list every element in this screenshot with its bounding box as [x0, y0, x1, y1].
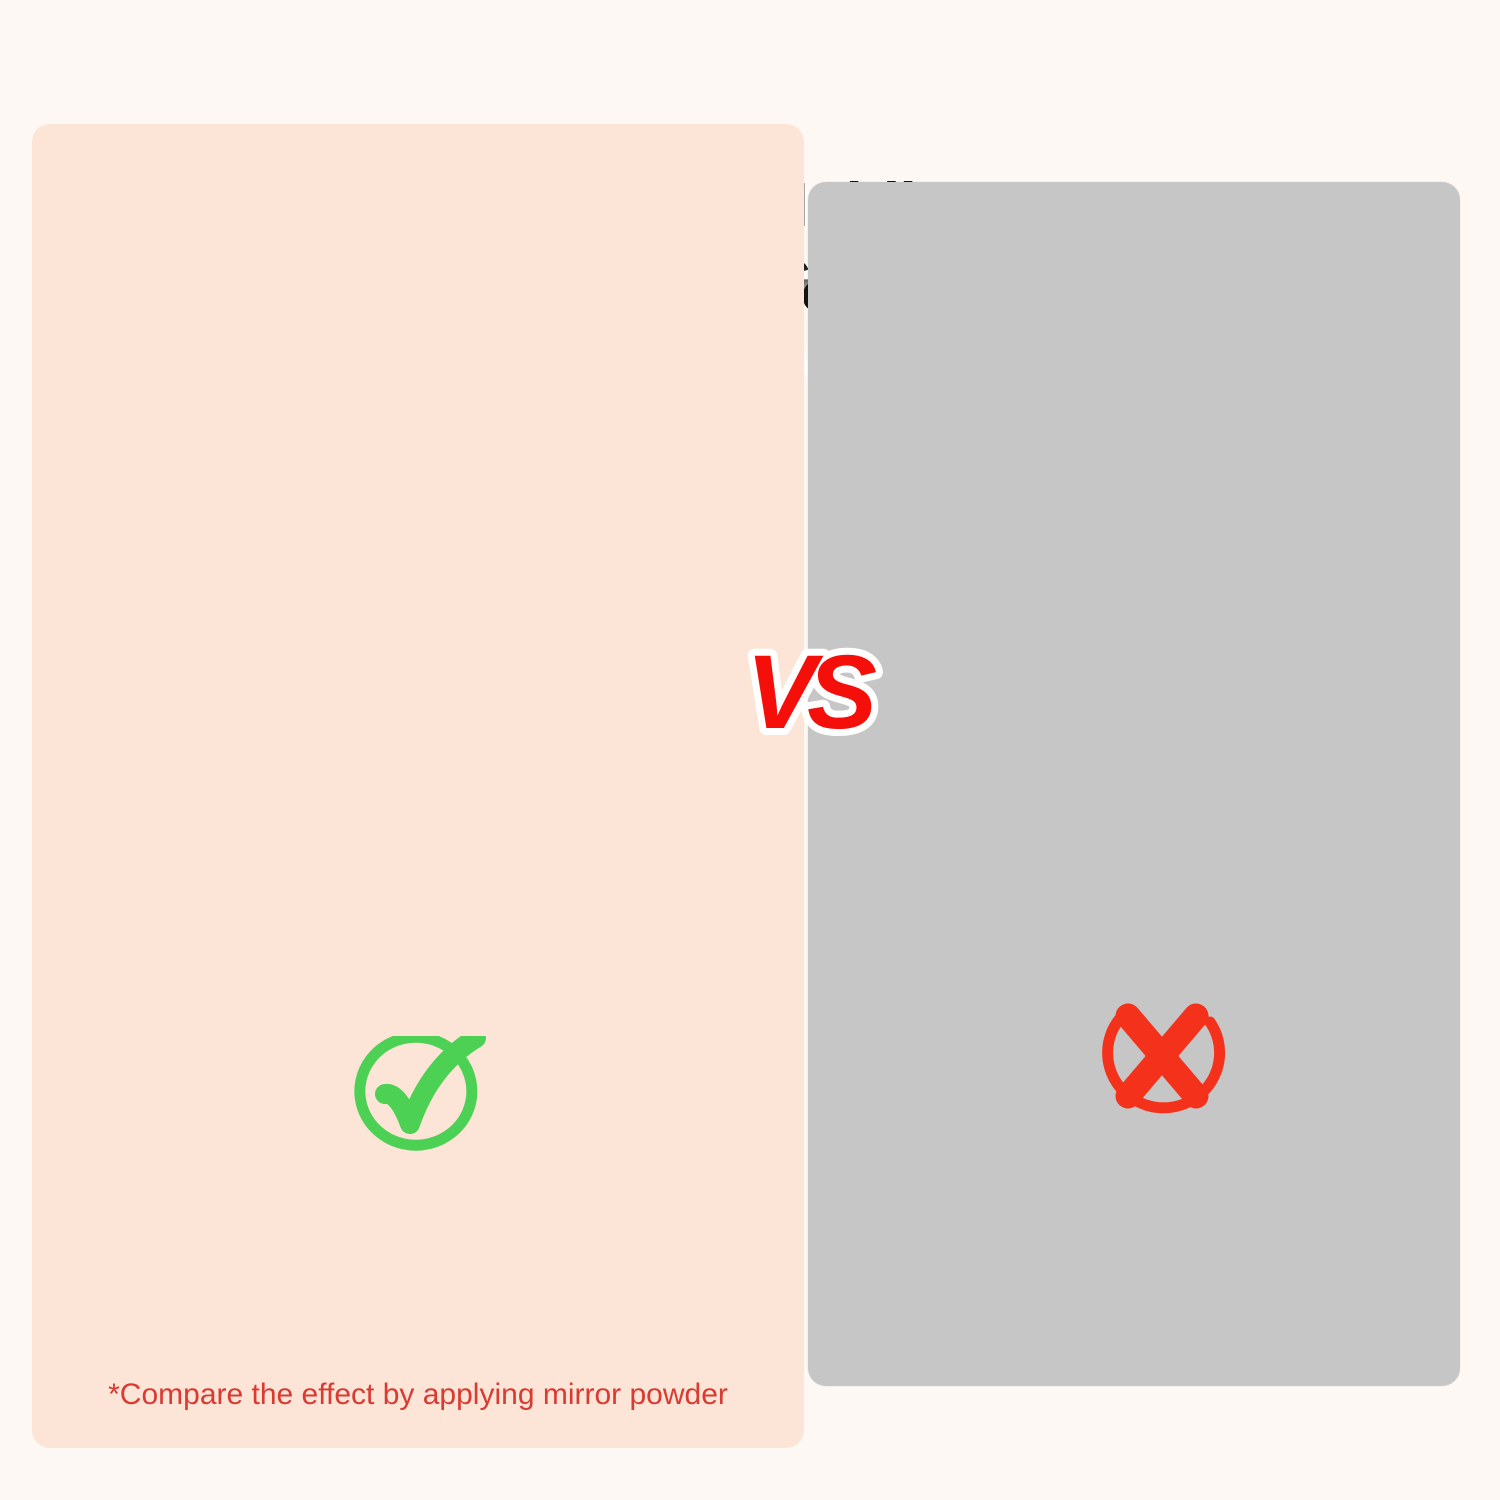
- footnote-compare-effect: *Compare the effect by applying mirror p…: [32, 1378, 804, 1412]
- cross-circle-icon: [1092, 992, 1230, 1124]
- versus-badge: VS VS: [744, 628, 864, 758]
- comparison-panel-right: [808, 182, 1460, 1386]
- versus-label: VS: [746, 634, 876, 751]
- check-circle-icon: [352, 1036, 488, 1166]
- comparison-panel-left: [32, 124, 804, 1448]
